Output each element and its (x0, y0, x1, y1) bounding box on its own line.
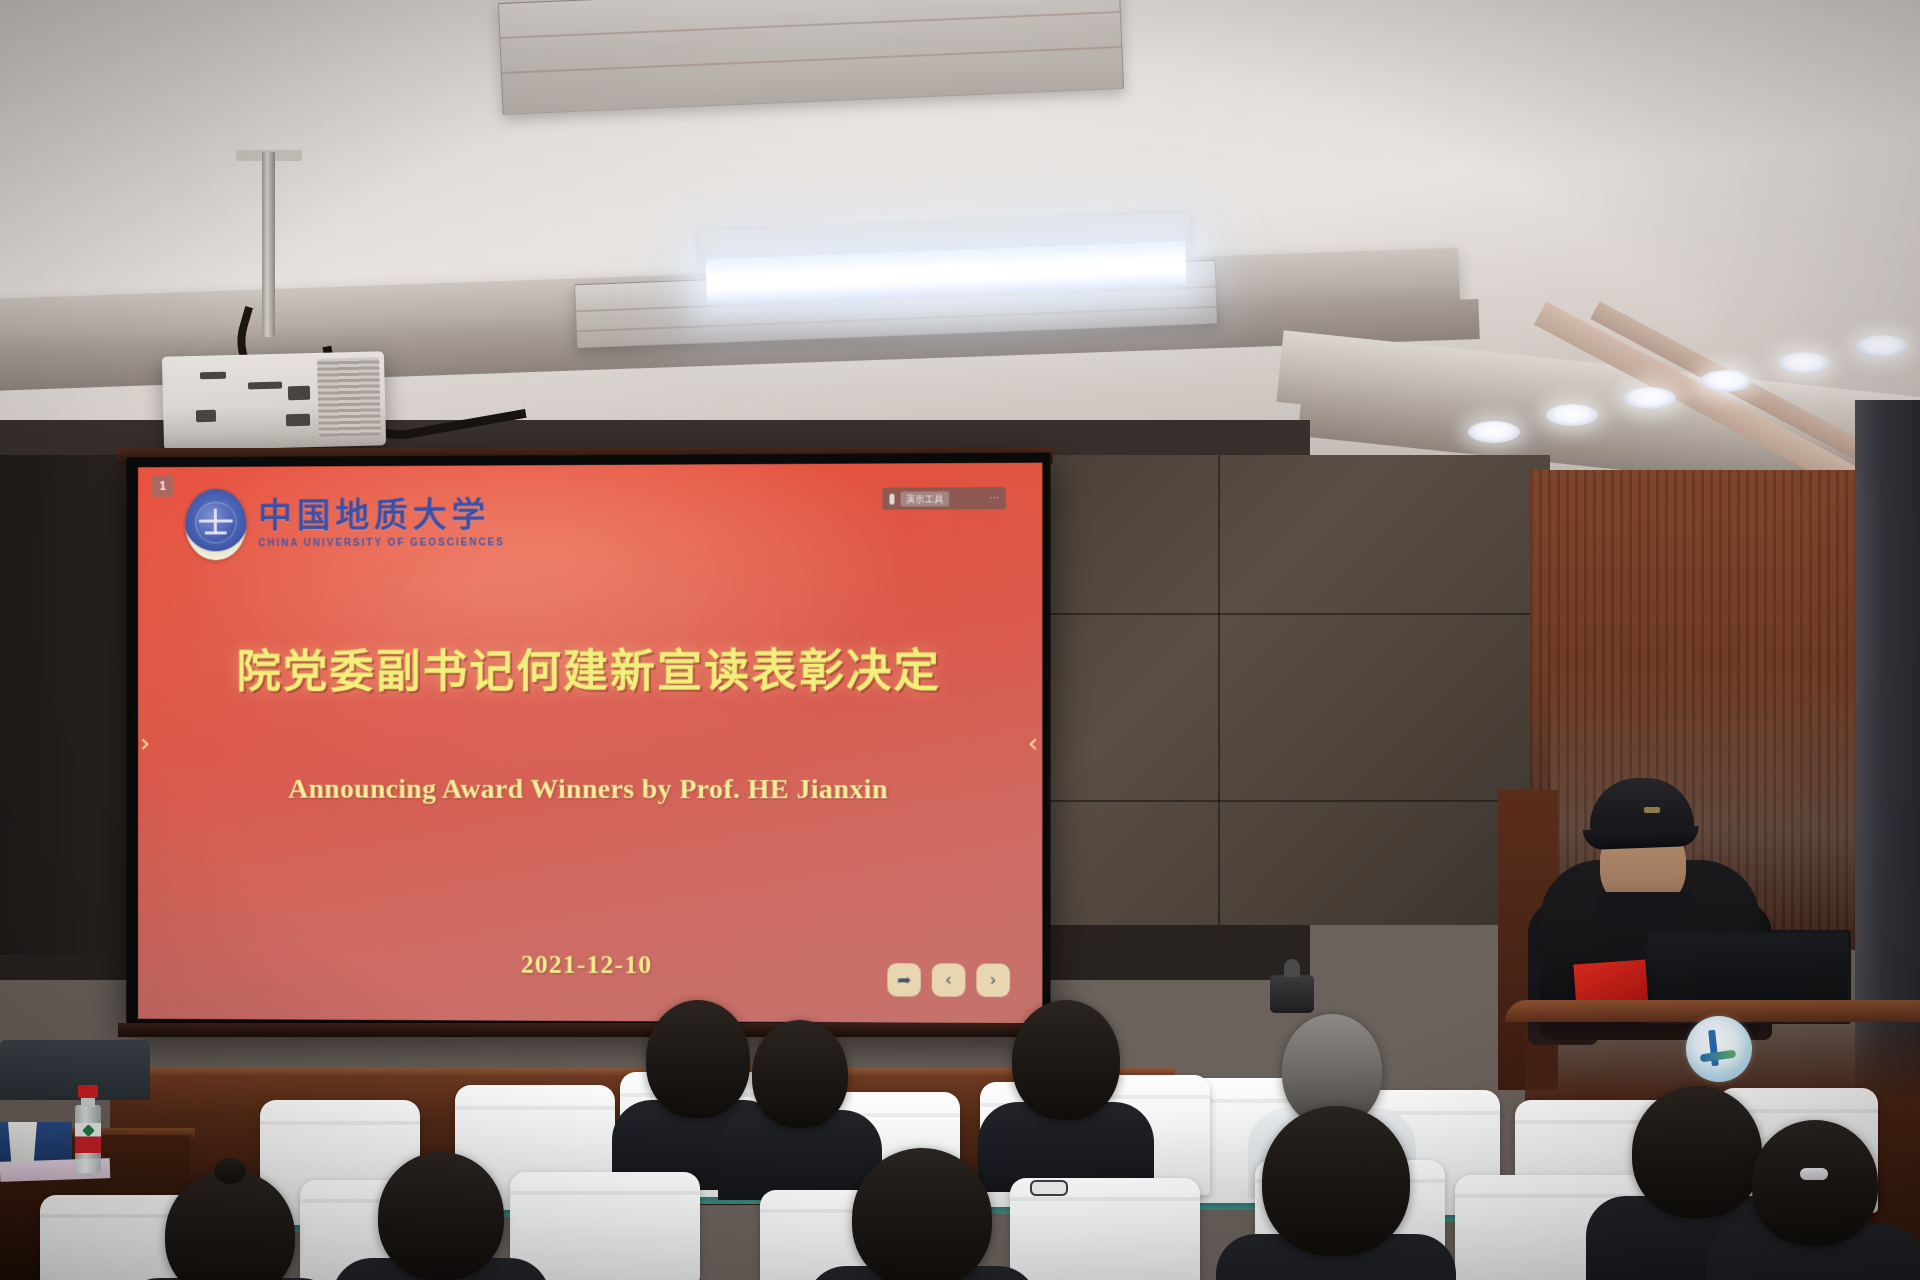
downlight-icon-3 (1624, 387, 1676, 409)
university-name-cn: 中国地质大学 (258, 498, 505, 533)
audience-head-r1-3 (1012, 1000, 1120, 1120)
window-curtain (1855, 400, 1920, 1100)
downlight-icon-4 (1700, 370, 1752, 392)
audience-head-r2-2 (378, 1152, 504, 1280)
desk-microphone (1270, 975, 1314, 1013)
projector-port-vga (288, 386, 310, 401)
speaker-cap-brim (1583, 826, 1700, 850)
projector-port-hdmi (286, 414, 310, 427)
projector-mount-pole (262, 152, 275, 337)
audience-glasses (1030, 1180, 1068, 1196)
university-logo: 中国地质大学 CHINA UNIVERSITY OF GEOSCIENCES (185, 487, 505, 560)
panel-wall (1040, 455, 1550, 925)
university-seal-icon (185, 489, 246, 561)
university-name-en: CHINA UNIVERSITY OF GEOSCIENCES (258, 537, 505, 549)
screen-bottom-bar (118, 1023, 1053, 1037)
audience-head-r1-2 (752, 1020, 848, 1128)
slide-subtitle: Announcing Award Winners by Prof. HE Jia… (138, 774, 1042, 807)
presentation-toolbar[interactable]: 演示工具 ⋯ (882, 487, 1005, 510)
downlight-icon-5 (1778, 352, 1830, 374)
next-slide-icon[interactable]: › (976, 964, 1009, 997)
water-bottle (73, 1085, 103, 1173)
presentation-slide[interactable]: 1 演示工具 ⋯ 中国地质大学 CHINA UNIVERSITY OF GEOS… (138, 463, 1042, 1024)
toolbar-label: 演示工具 (901, 491, 949, 506)
auditorium-scene: 1 演示工具 ⋯ 中国地质大学 CHINA UNIVERSITY OF GEOS… (0, 0, 1920, 1280)
projector-port-b (248, 382, 282, 390)
audience-chair-mid-2 (510, 1172, 700, 1280)
paper-cup (6, 1122, 39, 1162)
chevron-right-icon[interactable]: › (140, 729, 150, 759)
audience-head-r1-1 (646, 1000, 750, 1118)
more-dots-icon[interactable]: ⋯ (990, 493, 999, 504)
audience-head-r2-5 (1632, 1086, 1762, 1218)
audience-hairclip (1800, 1168, 1828, 1180)
audience-head-r2-6 (1752, 1120, 1878, 1246)
share-export-icon[interactable]: ➦ (887, 963, 920, 996)
chevron-left-icon[interactable]: ‹ (1028, 729, 1039, 759)
projector-vent-grill (317, 357, 381, 436)
slide-nav-group[interactable]: ➦ ‹ › (887, 963, 1010, 997)
slide-title: 院党委副书记何建新宣读表彰决定 (138, 634, 1042, 700)
projection-screen: 1 演示工具 ⋯ 中国地质大学 CHINA UNIVERSITY OF GEOS… (126, 453, 1050, 1036)
microphone-icon[interactable] (889, 493, 894, 504)
previous-slide-icon[interactable]: ‹ (932, 963, 965, 996)
downlight-icon-6 (1856, 335, 1908, 357)
downlight-icon-1 (1468, 421, 1520, 443)
downlight-icon-2 (1546, 404, 1598, 426)
university-emblem-icon (1686, 1016, 1752, 1082)
audience-head-r2-4 (1262, 1106, 1410, 1256)
slide-number-badge: 1 (152, 475, 174, 497)
cap-badge-icon (1644, 807, 1660, 813)
speaker-collar (1596, 892, 1690, 926)
projector-port-usb (196, 410, 216, 422)
audience-head-r2-3 (852, 1148, 992, 1280)
projector-port-a (200, 372, 226, 380)
